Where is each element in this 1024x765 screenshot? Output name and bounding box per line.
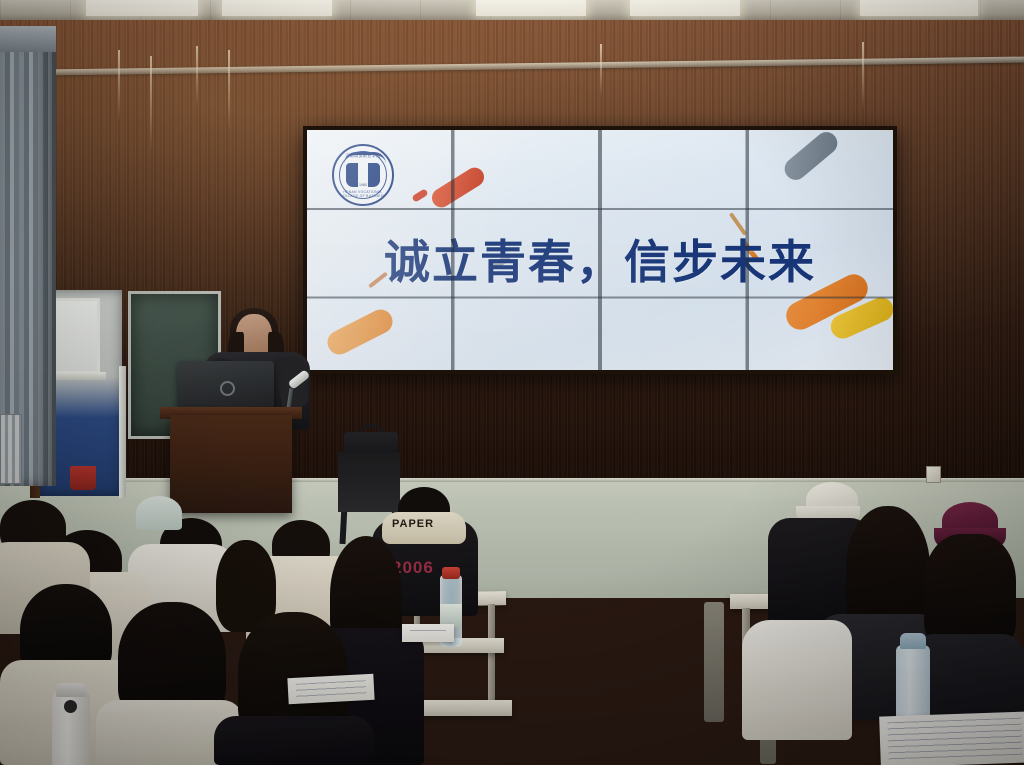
wall-metal-rail xyxy=(0,57,1024,76)
tumbler-cap xyxy=(56,683,86,697)
wall-streak xyxy=(196,46,198,106)
open-notebook[interactable] xyxy=(287,674,374,704)
pill-red-small-icon xyxy=(411,188,428,202)
door-window xyxy=(52,298,100,374)
light-switch[interactable] xyxy=(926,466,941,483)
light-cap-icon xyxy=(136,496,182,530)
wall-streak xyxy=(150,56,152,152)
ceiling-light xyxy=(630,0,740,16)
wall-streak xyxy=(600,44,602,96)
tumbler-logo-icon xyxy=(64,700,77,713)
video-wall-frame: 河南商务职业学院 1980 HENAN VOCATIONAL COLLEGE O… xyxy=(303,126,897,374)
ceiling xyxy=(0,0,1024,22)
ceiling-light xyxy=(222,0,332,16)
curtain-rail xyxy=(0,26,56,52)
ceiling-light xyxy=(86,0,198,16)
open-notebook[interactable] xyxy=(879,711,1024,765)
video-wall-screen[interactable]: 河南商务职业学院 1980 HENAN VOCATIONAL COLLEGE O… xyxy=(307,130,893,370)
red-bucket xyxy=(70,466,96,490)
ceiling-light xyxy=(860,0,978,16)
black-stool xyxy=(338,452,400,512)
presenter-laptop[interactable] xyxy=(178,361,274,413)
pill-orange-bottom-left-icon xyxy=(323,305,396,358)
thermos-cap xyxy=(900,633,926,649)
wall-streak xyxy=(118,50,120,122)
hood-print: PAPER xyxy=(392,518,454,532)
slide-headline: 诚立青春，信步未来 xyxy=(307,226,893,292)
wall-trim-line xyxy=(0,478,1024,482)
pill-gray-icon xyxy=(780,130,842,184)
radiator xyxy=(0,414,22,484)
student-body xyxy=(214,716,374,765)
ceiling-light xyxy=(476,0,586,16)
emblem-text-top: 河南商务职业学院 xyxy=(334,153,392,159)
wall-streak xyxy=(228,50,230,130)
wall-streak xyxy=(862,42,864,110)
paper-sheet[interactable] xyxy=(402,624,454,642)
student-body-white xyxy=(742,620,852,740)
pill-red-icon xyxy=(428,164,487,211)
classroom-photo: 河南商务职业学院 1980 HENAN VOCATIONAL COLLEGE O… xyxy=(0,0,1024,765)
emblem-year: 1980 xyxy=(334,183,392,187)
podium xyxy=(170,415,292,513)
emblem-text-bottom: HENAN VOCATIONAL COLLEGE OF BUSINESS xyxy=(334,190,392,198)
bottle-cap xyxy=(442,567,460,579)
chair-back xyxy=(704,602,724,722)
board-support-pole xyxy=(119,366,126,498)
school-emblem-icon: 河南商务职业学院 1980 HENAN VOCATIONAL COLLEGE O… xyxy=(332,144,394,206)
